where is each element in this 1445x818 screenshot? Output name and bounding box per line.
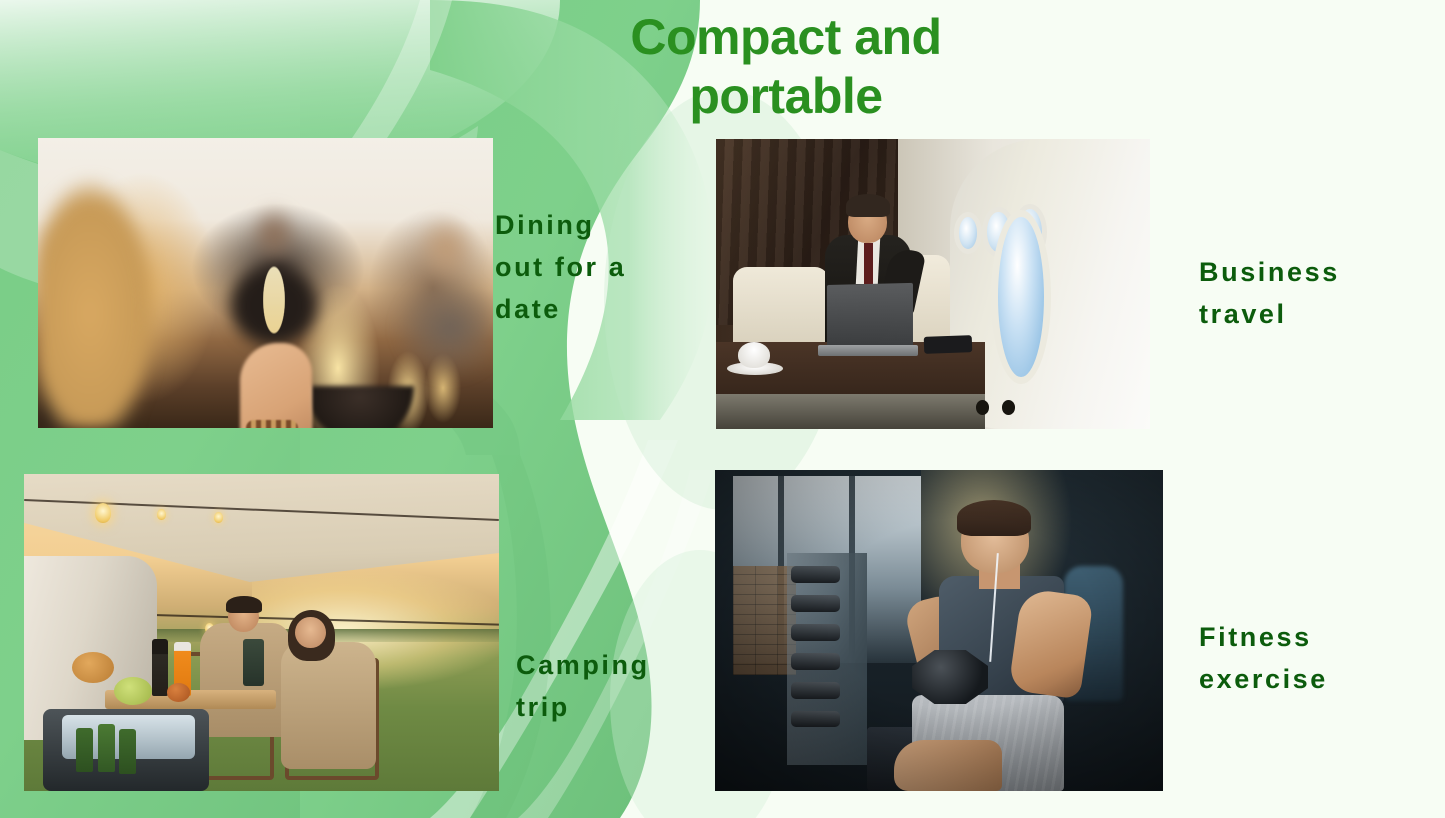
photo-vignette xyxy=(715,470,1163,791)
coffee-cup xyxy=(738,342,771,368)
laptop-screen xyxy=(826,283,912,349)
dining-bracelet xyxy=(246,420,298,428)
laptop-base xyxy=(818,345,918,357)
camper-woman-head xyxy=(295,617,326,649)
cabin-floor-rail xyxy=(716,394,985,429)
cabin-vent-2 xyxy=(1002,400,1015,415)
businessman-tie xyxy=(864,243,874,289)
caption-fitness-exercise: Fitness exercise xyxy=(1199,617,1429,701)
businessman-hair xyxy=(846,194,889,217)
slide-title: Compact and portable xyxy=(596,8,976,125)
cabin-vent-1 xyxy=(976,400,989,415)
drink-bottle-1 xyxy=(76,728,93,772)
wine-bottle xyxy=(152,639,168,696)
drink-bottle-3 xyxy=(119,729,136,773)
drink-bottle-2 xyxy=(98,724,115,772)
slide-canvas: Compact and portable Dining out for a da… xyxy=(0,0,1445,818)
photo-dining-out xyxy=(38,138,493,428)
caption-camping-trip: Camping trip xyxy=(516,645,716,729)
camper-man-hair xyxy=(226,596,262,613)
light-bulb-2 xyxy=(157,509,166,520)
caption-dining-out: Dining out for a date xyxy=(495,205,695,331)
jet-window-large xyxy=(998,217,1044,377)
photo-business-travel xyxy=(716,139,1150,429)
photo-fitness-exercise xyxy=(715,470,1163,791)
photo-camping-trip xyxy=(24,474,499,791)
dining-candle xyxy=(292,384,310,428)
photo-dining-out-image xyxy=(38,138,493,428)
thermos xyxy=(243,639,264,687)
dining-hand xyxy=(240,343,312,428)
tablet-device xyxy=(924,335,972,354)
light-bulb-main xyxy=(95,503,111,523)
caption-business-travel: Business travel xyxy=(1199,252,1429,336)
light-bulb-3 xyxy=(214,512,223,523)
dining-bowl xyxy=(306,386,414,428)
bread-basket xyxy=(72,652,115,684)
camper-woman-body xyxy=(281,642,376,769)
photo-business-travel-image xyxy=(716,139,1150,429)
photo-camping-trip-image xyxy=(24,474,499,791)
photo-fitness-exercise-image xyxy=(715,470,1163,791)
